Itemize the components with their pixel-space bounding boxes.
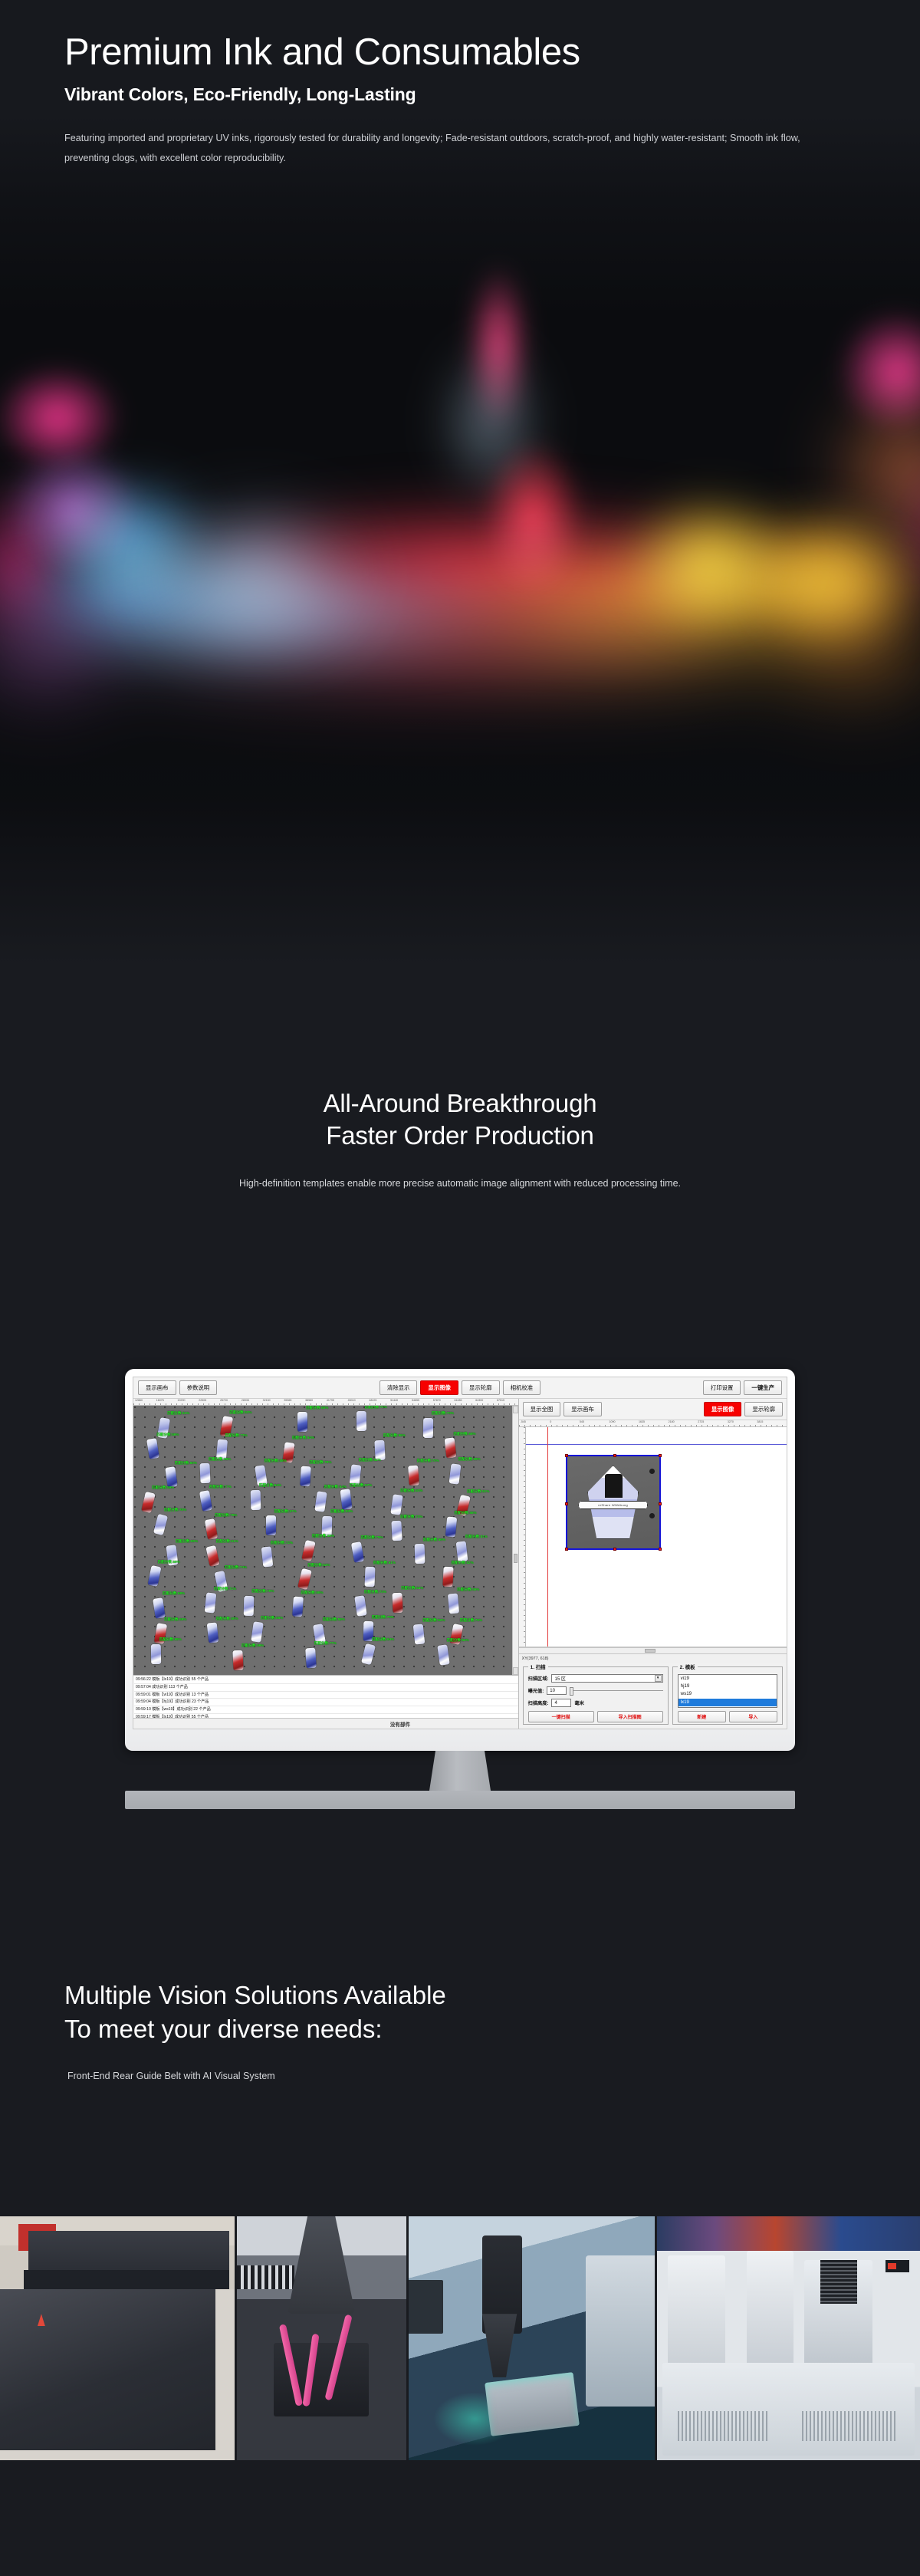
ruler-tick: 3270 — [728, 1420, 757, 1423]
log-entry[interactable]: 09:59:04 模板【hj19】成功识别 23 个产品 — [134, 1699, 518, 1706]
match-score-label: 匹配分数:61% — [167, 1411, 189, 1416]
detected-product — [351, 1541, 364, 1563]
match-score-label: 匹配分数:62% — [452, 1561, 474, 1565]
software-body: 1286016075192902250525720289353215035365… — [133, 1399, 787, 1729]
match-score-label: 匹配分数:62% — [307, 1563, 330, 1568]
detected-product — [153, 1514, 168, 1535]
ruler-tick: 54655 — [412, 1399, 433, 1402]
detected-product — [361, 1643, 376, 1665]
detected-product — [456, 1541, 468, 1561]
detected-product — [206, 1622, 219, 1643]
template-group-title: 2. 模板 — [678, 1663, 698, 1670]
match-score-label: 匹配分数:57% — [350, 1483, 372, 1488]
ruler-tick: 3815 — [757, 1420, 787, 1423]
scan-canvas-panel: 1286016075192902250525720289353215035365… — [133, 1399, 519, 1729]
match-score-label: 匹配分数:71% — [214, 1587, 236, 1591]
photo-showroom-machines — [657, 2216, 920, 2460]
match-score-label: 匹配分数:64% — [292, 1436, 314, 1440]
ruler-tick: 35365 — [284, 1399, 305, 1402]
match-score-label: 匹配分数:73% — [364, 1590, 386, 1594]
match-score-label: 匹配分数:65% — [261, 1616, 283, 1620]
detected-product — [292, 1597, 304, 1617]
match-score-label: 匹配分数:78% — [164, 1508, 186, 1512]
ruler-tick: 545 — [580, 1420, 609, 1423]
landing-page: Premium Ink and Consumables Vibrant Colo… — [0, 0, 920, 2576]
match-score-label: 匹配分数:66% — [301, 1591, 324, 1595]
detected-product — [392, 1521, 402, 1541]
monitor-bezel: 显示画布 参数说明 清除显示 显示图像 显示轮廓 相机校准 打印设置 一键生产 — [125, 1369, 795, 1751]
template-group: 2. 模板 vi19hj19ws19lx19 新建 导入 — [672, 1666, 783, 1725]
match-score-label: 匹配分数:80% — [176, 1539, 198, 1544]
detected-product — [297, 1568, 312, 1590]
detected-product — [354, 1595, 366, 1617]
match-score-label: 匹配分数:61% — [373, 1561, 396, 1565]
page-title: Premium Ink and Consumables — [64, 32, 877, 74]
detected-product — [393, 1592, 403, 1613]
print-settings-button[interactable]: 打印设置 — [703, 1380, 741, 1395]
preview-horizontal-ruler: -5450545109016352180272532703815 — [519, 1420, 787, 1427]
match-score-label: 匹配分数:73% — [400, 1515, 422, 1519]
monitor-neck — [429, 1751, 491, 1791]
match-score-label: 匹配分数:76% — [309, 1460, 331, 1465]
match-score-label: 匹配分数:60% — [175, 1461, 197, 1466]
detected-product — [261, 1547, 274, 1568]
detected-product — [349, 1464, 361, 1485]
detected-product — [205, 1519, 218, 1541]
detected-product — [142, 1491, 156, 1512]
detected-product — [153, 1597, 166, 1619]
match-score-label: 匹配分数:52% — [359, 1458, 381, 1462]
ruler-tick: 45010 — [348, 1399, 370, 1402]
chevron-down-icon[interactable]: ▼ — [655, 1675, 662, 1682]
match-score-label: 匹配分数:93% — [330, 1509, 353, 1514]
detected-product — [301, 1466, 312, 1487]
show-image-button[interactable]: 显示图像 — [420, 1380, 458, 1395]
match-score-label: 匹配分数:59% — [158, 1560, 180, 1564]
ruler-tick: 48225 — [369, 1399, 390, 1402]
detected-product — [364, 1567, 375, 1587]
match-score-label: 匹配分数:58% — [264, 1459, 287, 1463]
match-score-label: 匹配分数:59% — [242, 1643, 264, 1648]
match-score-label: 匹配分数:65% — [209, 1457, 231, 1462]
detected-product — [243, 1596, 254, 1616]
vision-software-window: 显示画布 参数说明 清除显示 显示图像 显示轮廓 相机校准 打印设置 一键生产 — [133, 1377, 787, 1729]
match-score-label: 匹配分数:75% — [215, 1513, 237, 1518]
preview-artboard[interactable]: reShare WWAhung — [526, 1427, 787, 1647]
match-score-label: 匹配分数:70% — [432, 1411, 454, 1416]
detected-product — [423, 1418, 433, 1438]
new-template-button[interactable]: 新建 — [678, 1711, 726, 1722]
detected-product — [205, 1545, 219, 1567]
param-help-button[interactable]: 参数说明 — [179, 1380, 218, 1395]
detected-product — [448, 1594, 459, 1614]
detected-product — [200, 1463, 211, 1484]
ruler-tick: 1090 — [609, 1420, 639, 1423]
match-score-label: 匹配分数:67% — [274, 1509, 297, 1514]
import-template-button[interactable]: 导入 — [729, 1711, 777, 1722]
match-score-label: 匹配分数:70% — [460, 1618, 482, 1623]
canvas-vertical-scrollbar[interactable] — [512, 1406, 518, 1675]
detected-product — [305, 1647, 317, 1668]
preview-status-bar: XY(3977, 618) — [519, 1653, 787, 1663]
match-score-label: 匹配分数:77% — [209, 1485, 232, 1489]
photo-dark-printer-shopfloor — [0, 2216, 235, 2460]
preview-selection-plate[interactable]: reShare WWAhung — [566, 1455, 661, 1550]
preview-guide-vertical — [547, 1427, 548, 1647]
match-score-label: 匹配分数:79% — [361, 1535, 383, 1540]
match-score-label: 匹配分数:62% — [229, 1410, 251, 1415]
match-score-label: 匹配分数:73% — [225, 1433, 248, 1438]
preview-artwork: reShare WWAhung — [573, 1462, 653, 1542]
exposure-label: 曝光值: — [528, 1687, 544, 1694]
scan-group-title: 1. 扫描 — [528, 1663, 548, 1670]
software-toolbar: 显示画布 参数说明 清除显示 显示图像 显示轮廓 相机校准 打印设置 一键生产 — [133, 1377, 787, 1399]
scan-settings-group: 1. 扫描 扫描区域: 15 区 ▼ — [523, 1666, 669, 1725]
hero-subtitle: Vibrant Colors, Eco-Friendly, Long-Lasti… — [64, 84, 877, 105]
exposure-input[interactable]: 10 — [547, 1686, 567, 1695]
breakthrough-subtitle: High-definition templates enable more pr… — [0, 1178, 920, 1189]
template-list[interactable]: vi19hj19ws19lx19 — [678, 1674, 777, 1708]
monitor-base — [125, 1791, 795, 1809]
breakthrough-title: All-Around Breakthrough Faster Order Pro… — [0, 1087, 920, 1152]
match-score-label: 匹配分数:74% — [225, 1565, 247, 1570]
solutions-title-line1: Multiple Vision Solutions Available — [64, 1979, 920, 2012]
solutions-title-line2: To meet your diverse needs: — [64, 2012, 920, 2046]
recognition-log-panel: 09:56:22 模板【lx19】成功识别 55 个产品09:57:04 成功识… — [133, 1675, 518, 1718]
preview-show-canvas-button[interactable]: 显示画布 — [563, 1402, 602, 1416]
detected-product — [266, 1515, 276, 1535]
detected-product — [147, 1438, 160, 1459]
detected-product — [301, 1539, 315, 1561]
hero-description: Featuring imported and proprietary UV in… — [64, 129, 831, 169]
scan-canvas[interactable]: 匹配分数:61%匹配分数:62%匹配分数:68%匹配分数:71%匹配分数:70%… — [133, 1406, 512, 1675]
log-entry[interactable]: 09:57:04 成功识别 113 个产品 — [134, 1684, 518, 1692]
photo-vision-camera-tray — [409, 2216, 655, 2460]
detected-product — [322, 1515, 333, 1535]
solutions-subtitle: Front-End Rear Guide Belt with AI Visual… — [0, 2071, 920, 2081]
match-score-label: 匹配分数:52% — [422, 1618, 445, 1623]
log-entry[interactable]: 09:59:10 模板【ws19】成功识别 22 个产品 — [134, 1706, 518, 1714]
ruler-tick: 19290 — [178, 1399, 199, 1402]
preview-toolbar: 显示全图 显示画布 显示图像 显示轮廓 — [519, 1399, 787, 1420]
ruler-tick: 51440 — [390, 1399, 412, 1402]
match-score-label: 匹配分数:55% — [454, 1511, 476, 1515]
match-score-label: 匹配分数:66% — [423, 1538, 445, 1542]
match-score-label: 匹配分数:64% — [259, 1483, 281, 1488]
detected-product — [437, 1644, 449, 1666]
settings-groups: 1. 扫描 扫描区域: 15 区 ▼ — [519, 1663, 787, 1729]
match-score-label: 匹配分数:70% — [251, 1589, 274, 1594]
scan-area-value: 15 区 — [554, 1675, 565, 1682]
hero-section: Premium Ink and Consumables Vibrant Colo… — [0, 0, 920, 1005]
scan-area-label: 扫描区域: — [528, 1675, 549, 1682]
show-full-view-button[interactable]: 显示全图 — [523, 1402, 561, 1416]
match-score-label: 匹配分数:58% — [312, 1534, 334, 1538]
ruler-tick: 2725 — [698, 1420, 728, 1423]
ruler-tick: 1635 — [639, 1420, 669, 1423]
match-score-label: 匹配分数:63% — [400, 1489, 422, 1493]
show-outline-button[interactable]: 显示轮廓 — [462, 1380, 500, 1395]
preview-guide-horizontal — [526, 1444, 787, 1445]
ruler-tick: 25720 — [220, 1399, 242, 1402]
match-score-label: 匹配分数:77% — [314, 1641, 337, 1646]
scan-height-unit: 毫米 — [574, 1699, 583, 1706]
match-score-label: 匹配分数:68% — [453, 1432, 475, 1436]
detected-product — [413, 1624, 426, 1644]
horizontal-ruler: 1286016075192902250525720289353215035365… — [133, 1399, 518, 1406]
camera-calibration-button[interactable]: 相机校准 — [503, 1380, 541, 1395]
scan-area-select[interactable]: 15 区 ▼ — [551, 1674, 662, 1683]
detected-product — [356, 1411, 366, 1431]
preview-panel: 显示全图 显示画布 显示图像 显示轮廓 -5450545109016352180… — [519, 1399, 787, 1729]
ruler-tick: 0 — [550, 1420, 580, 1423]
one-key-production-button[interactable]: 一键生产 — [744, 1380, 782, 1395]
solutions-section: Multiple Vision Solutions Available To m… — [0, 1910, 920, 2081]
breakthrough-section: All-Around Breakthrough Faster Order Pro… — [0, 1005, 920, 1910]
detected-product — [408, 1465, 419, 1485]
breakthrough-heading-block: All-Around Breakthrough Faster Order Pro… — [0, 1005, 920, 1189]
log-entry[interactable]: 09:56:22 模板【lx19】成功识别 55 个产品 — [134, 1676, 518, 1684]
template-list-item[interactable]: hj19 — [678, 1683, 777, 1690]
match-score-label: 匹配分数:69% — [159, 1637, 182, 1642]
preview-vertical-ruler — [519, 1427, 526, 1647]
detected-product — [444, 1437, 456, 1458]
detected-product — [251, 1490, 261, 1510]
ruler-tick: -545 — [521, 1420, 550, 1423]
scan-height-label: 扫描高度: — [528, 1699, 549, 1706]
match-score-label: 匹配分数:61% — [216, 1539, 238, 1544]
detected-product — [314, 1491, 327, 1512]
ruler-tick: 38580 — [305, 1399, 327, 1402]
match-score-label: 匹配分数:58% — [323, 1617, 345, 1622]
match-score-label: 匹配分数:54% — [447, 1638, 469, 1643]
detected-product — [415, 1544, 426, 1564]
match-score-label: 匹配分数:76% — [372, 1615, 394, 1620]
match-score-label: 匹配分数:56% — [383, 1433, 406, 1438]
template-list-item[interactable]: lx19 — [678, 1699, 777, 1706]
template-list-item[interactable]: vi19 — [678, 1675, 777, 1683]
ruler-tick: 41795 — [327, 1399, 348, 1402]
match-score-label: 匹配分数:64% — [372, 1637, 394, 1642]
preview-horizontal-scrollbar[interactable] — [519, 1647, 787, 1653]
ruler-tick: 57870 — [433, 1399, 455, 1402]
match-score-label: 匹配分数:51% — [467, 1489, 489, 1494]
detected-product — [251, 1621, 264, 1643]
match-score-label: 匹配分数:72% — [271, 1541, 293, 1545]
log-entry[interactable]: 09:59:01 模板【vi19】成功识别 13 个产品 — [134, 1692, 518, 1699]
match-score-label: 匹配分数:66% — [156, 1433, 179, 1437]
import-scan-image-button[interactable]: 导入扫描图 — [597, 1711, 663, 1722]
match-score-label: 匹配分数:69% — [458, 1457, 481, 1462]
monitor-screen: 显示画布 参数说明 清除显示 显示图像 显示轮廓 相机校准 打印设置 一键生产 — [133, 1377, 787, 1729]
show-canvas-button[interactable]: 显示画布 — [138, 1380, 176, 1395]
ruler-tick: 16075 — [156, 1399, 178, 1402]
detected-product — [199, 1490, 212, 1512]
ruler-tick: 22505 — [199, 1399, 220, 1402]
match-score-label: 匹配分数:68% — [306, 1406, 328, 1410]
match-score-label: 匹配分数:68% — [164, 1617, 186, 1622]
ruler-tick: 2180 — [669, 1420, 698, 1423]
breakthrough-title-line1: All-Around Breakthrough — [0, 1087, 920, 1120]
preview-viewport[interactable]: reShare WWAhung — [519, 1427, 787, 1647]
solutions-title: Multiple Vision Solutions Available To m… — [0, 1910, 920, 2045]
match-score-label: 匹配分数:60% — [216, 1617, 238, 1621]
ink-cloud-artwork — [0, 115, 920, 1005]
template-list-item[interactable]: ws19 — [678, 1690, 777, 1698]
detected-product — [445, 1517, 456, 1538]
detected-product — [340, 1489, 353, 1510]
match-score-label: 匹配分数:68% — [163, 1591, 185, 1596]
exposure-slider[interactable] — [570, 1690, 662, 1691]
photo-printhead-pink-hoses — [237, 2216, 406, 2460]
one-key-scan-button[interactable]: 一键扫描 — [528, 1711, 594, 1722]
detected-product — [449, 1463, 461, 1484]
detected-product — [297, 1412, 307, 1432]
match-score-label: 匹配分数:64% — [401, 1586, 423, 1591]
detected-product — [442, 1567, 453, 1587]
ruler-tick: 64300 — [475, 1399, 497, 1402]
ruler-tick: 61085 — [454, 1399, 475, 1402]
match-score-label: 匹配分数:59% — [152, 1485, 174, 1490]
preview-artwork-banner: reShare WWAhung — [578, 1501, 649, 1509]
ruler-tick: 28935 — [242, 1399, 263, 1402]
left-status-bar: 没有部件 — [133, 1718, 518, 1729]
detected-product — [391, 1495, 403, 1516]
detected-product — [205, 1593, 217, 1614]
photo-strip — [0, 2216, 920, 2460]
preview-show-outline-button[interactable]: 显示轮廓 — [744, 1402, 783, 1416]
detected-product — [151, 1644, 161, 1664]
match-score-label: 匹配分数:71% — [365, 1406, 387, 1410]
scan-height-input[interactable]: 4 — [551, 1699, 571, 1707]
ruler-tick: 12860 — [135, 1399, 156, 1402]
breakthrough-title-line2: Faster Order Production — [0, 1120, 920, 1152]
match-score-label: 匹配分数:56% — [457, 1587, 479, 1592]
recognition-log-list[interactable]: 09:56:22 模板【lx19】成功识别 55 个产品09:57:04 成功识… — [133, 1676, 518, 1718]
detected-product — [233, 1650, 244, 1670]
match-score-label: 匹配分数:81% — [465, 1535, 488, 1539]
clear-display-button[interactable]: 清除显示 — [379, 1380, 418, 1395]
ruler-tick: 32150 — [263, 1399, 284, 1402]
match-score-label: 匹配分数:70% — [417, 1459, 439, 1463]
detected-product — [147, 1565, 161, 1587]
preview-show-image-button[interactable]: 显示图像 — [704, 1402, 742, 1416]
monitor-mockup: 显示画布 参数说明 清除显示 显示图像 显示轮廓 相机校准 打印设置 一键生产 — [125, 1369, 795, 1809]
page-footer — [0, 2460, 920, 2576]
ruler-tick: 67515 — [497, 1399, 518, 1402]
